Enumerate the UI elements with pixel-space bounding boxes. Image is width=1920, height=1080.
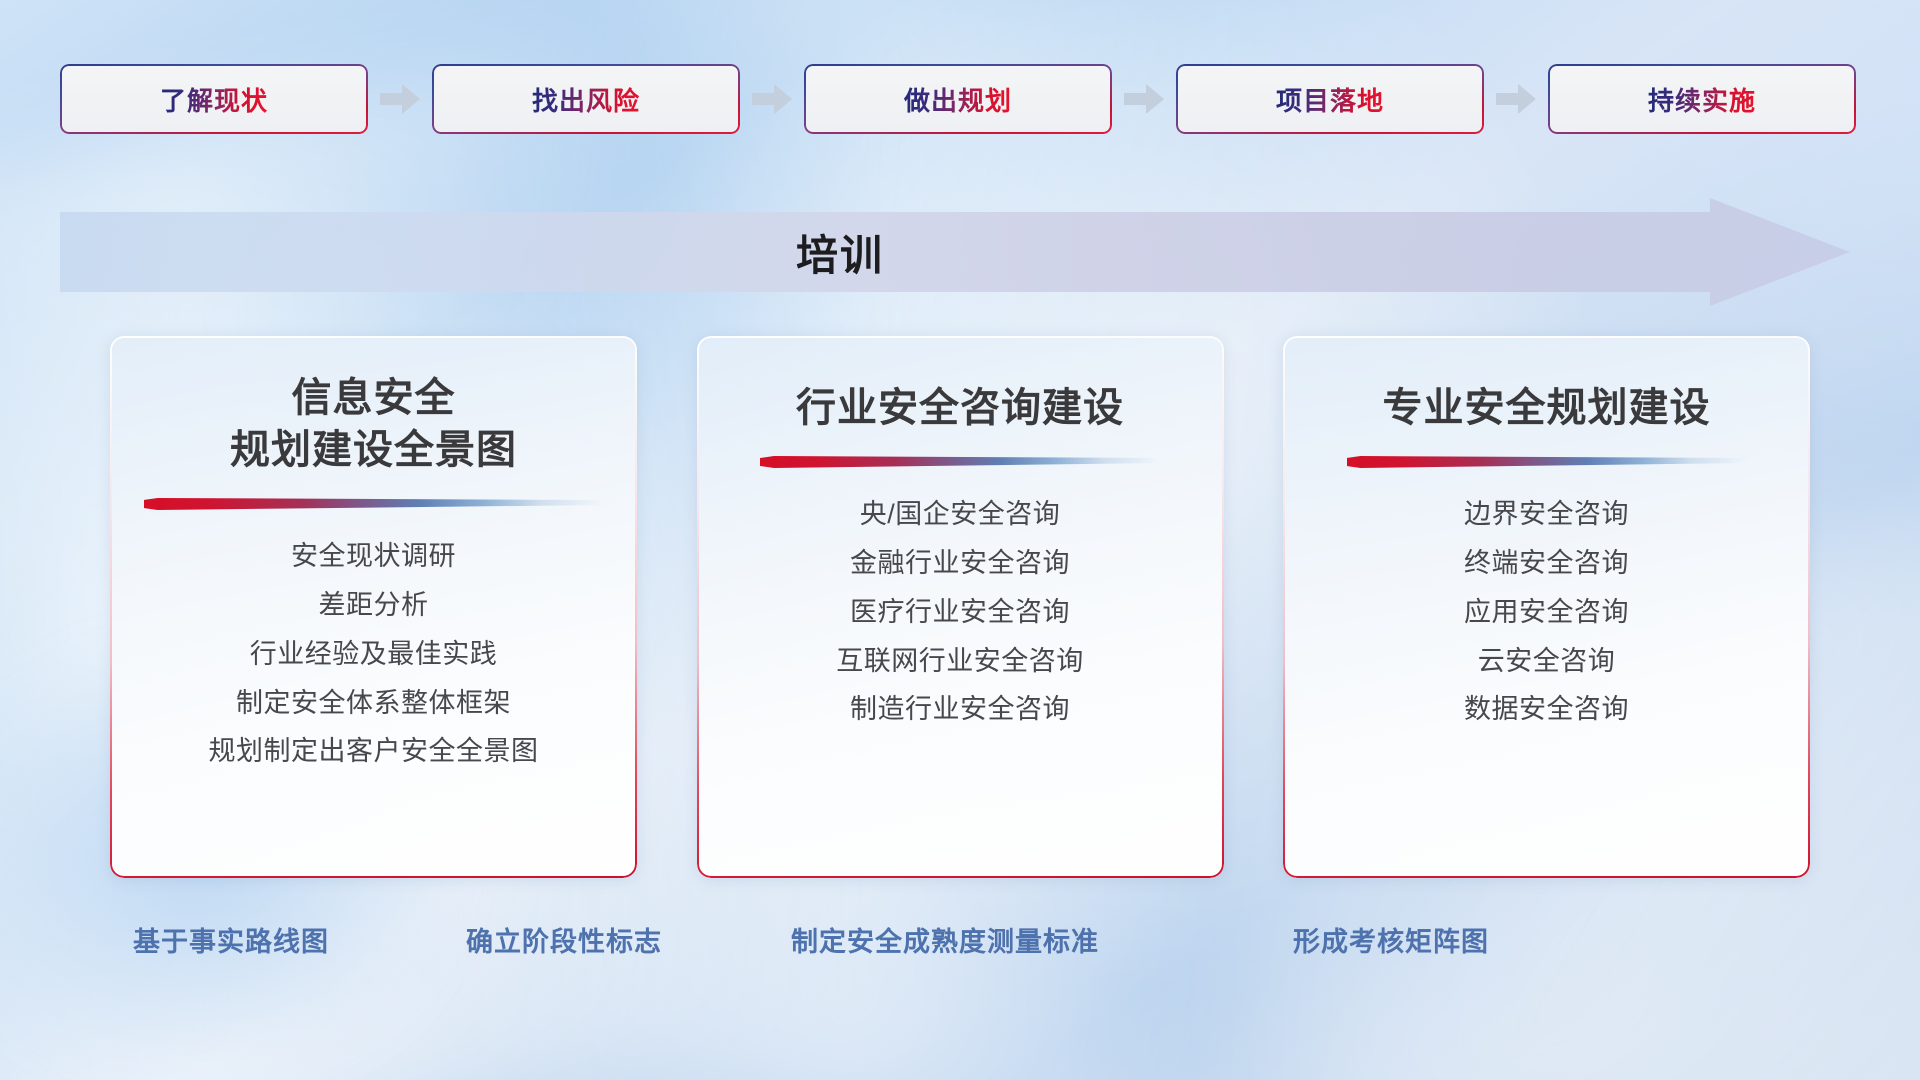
step-box-3[interactable]: 做出规划 bbox=[804, 64, 1112, 134]
process-step-row: 了解现状 找出风险 做出规划 项目落地 持续实施 bbox=[60, 64, 1860, 134]
list-item: 差距分析 bbox=[319, 585, 429, 627]
card-divider bbox=[144, 498, 604, 510]
bottom-label-row: 基于事实路线图 确立阶段性标志 制定安全成熟度测量标准 形成考核矩阵图 bbox=[0, 920, 1920, 966]
card-row: 信息安全 规划建设全景图 安全现状调研 差距分析 行业经验及最佳实践 制定安全体… bbox=[110, 336, 1810, 878]
arrow-right-icon bbox=[368, 64, 432, 134]
card-industry-security-consulting[interactable]: 行业安全咨询建设 央/国企安全咨询 金融行业安全咨询 医疗行业安全咨询 互联网行… bbox=[697, 336, 1224, 878]
arrow-right-icon bbox=[740, 64, 804, 134]
step-box-4[interactable]: 项目落地 bbox=[1176, 64, 1484, 134]
card-item-list: 央/国企安全咨询 金融行业安全咨询 医疗行业安全咨询 互联网行业安全咨询 制造行… bbox=[723, 494, 1198, 731]
bottom-label-matrix: 形成考核矩阵图 bbox=[1293, 920, 1489, 959]
list-item: 边界安全咨询 bbox=[1464, 494, 1629, 536]
card-title: 信息安全 规划建设全景图 bbox=[230, 372, 517, 476]
step-box-5[interactable]: 持续实施 bbox=[1548, 64, 1856, 134]
list-item: 金融行业安全咨询 bbox=[850, 543, 1070, 585]
card-divider bbox=[1347, 456, 1747, 468]
card-title: 专业安全规划建设 bbox=[1383, 382, 1711, 434]
list-item: 云安全咨询 bbox=[1478, 641, 1616, 683]
list-item: 安全现状调研 bbox=[291, 536, 456, 578]
step-box-1[interactable]: 了解现状 bbox=[60, 64, 368, 134]
list-item: 医疗行业安全咨询 bbox=[850, 592, 1070, 634]
arrow-right-icon bbox=[1484, 64, 1548, 134]
arrow-right-icon bbox=[1112, 64, 1176, 134]
card-professional-security-planning[interactable]: 专业安全规划建设 边界安全咨询 终端安全咨询 应用安全咨询 云安全咨询 数据安全… bbox=[1283, 336, 1810, 878]
step-box-2[interactable]: 找出风险 bbox=[432, 64, 740, 134]
list-item: 规划制定出客户安全全景图 bbox=[209, 731, 539, 773]
list-item: 互联网行业安全咨询 bbox=[836, 641, 1084, 683]
step-label: 持续实施 bbox=[1648, 81, 1756, 118]
list-item: 央/国企安全咨询 bbox=[860, 494, 1061, 536]
card-information-security-blueprint[interactable]: 信息安全 规划建设全景图 安全现状调研 差距分析 行业经验及最佳实践 制定安全体… bbox=[110, 336, 637, 878]
bottom-label-maturity: 制定安全成熟度测量标准 bbox=[791, 920, 1099, 959]
card-divider bbox=[760, 456, 1160, 468]
slide-canvas: 了解现状 找出风险 做出规划 项目落地 持续实施 培训 bbox=[0, 0, 1920, 1080]
list-item: 行业经验及最佳实践 bbox=[250, 634, 498, 676]
list-item: 制定安全体系整体框架 bbox=[236, 683, 511, 725]
training-banner: 培训 bbox=[60, 198, 1850, 306]
list-item: 应用安全咨询 bbox=[1464, 592, 1629, 634]
list-item: 终端安全咨询 bbox=[1464, 543, 1629, 585]
step-label: 项目落地 bbox=[1276, 81, 1384, 118]
step-label: 做出规划 bbox=[904, 81, 1012, 118]
list-item: 制造行业安全咨询 bbox=[850, 689, 1070, 731]
bottom-label-milestone: 确立阶段性标志 bbox=[466, 920, 662, 959]
banner-title: 培训 bbox=[60, 198, 1620, 306]
step-label: 了解现状 bbox=[160, 81, 268, 118]
card-item-list: 边界安全咨询 终端安全咨询 应用安全咨询 云安全咨询 数据安全咨询 bbox=[1309, 494, 1784, 731]
bottom-label-roadmap: 基于事实路线图 bbox=[133, 920, 329, 959]
card-item-list: 安全现状调研 差距分析 行业经验及最佳实践 制定安全体系整体框架 规划制定出客户… bbox=[136, 536, 611, 773]
step-label: 找出风险 bbox=[532, 81, 640, 118]
list-item: 数据安全咨询 bbox=[1464, 689, 1629, 731]
card-title: 行业安全咨询建设 bbox=[796, 382, 1124, 434]
